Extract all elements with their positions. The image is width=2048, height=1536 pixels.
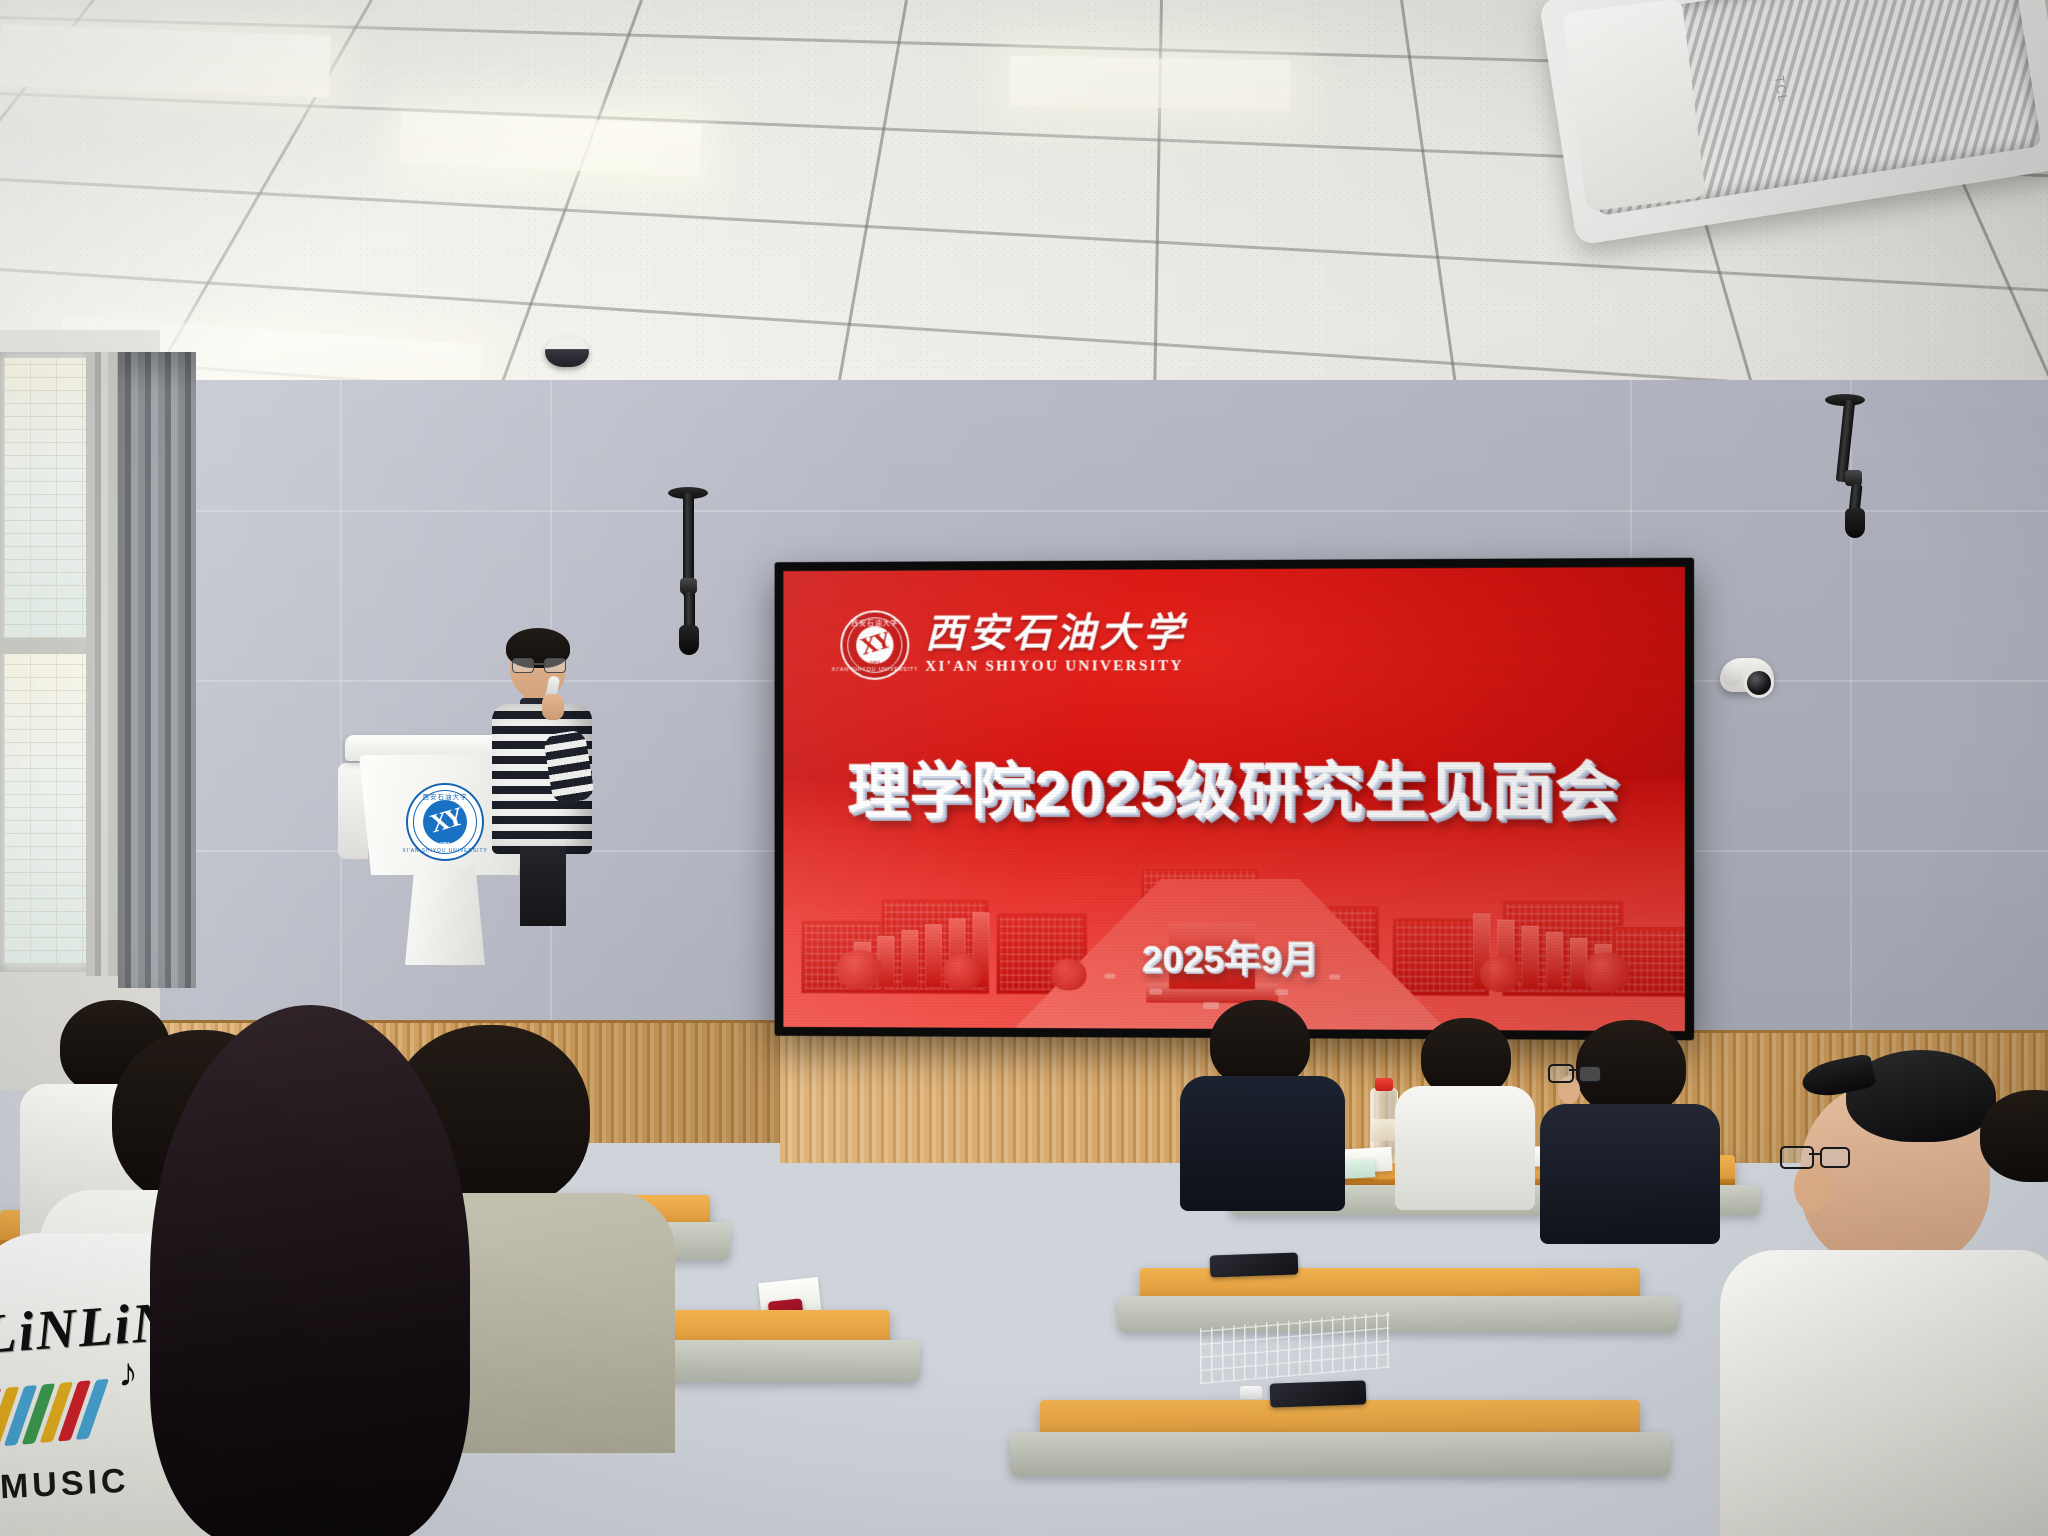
audience-ear (1794, 1162, 1830, 1212)
emblem-english-text: XI'AN SHIYOU UNIVERSITY (402, 848, 487, 854)
emblem-year: 1951 (440, 841, 450, 846)
presenter (492, 632, 592, 922)
presenter-glasses-icon (512, 658, 564, 671)
campus-tree (1583, 952, 1630, 992)
audience-torso (1180, 1076, 1345, 1211)
lectern-base (405, 865, 485, 965)
audience-head (1210, 1000, 1310, 1088)
curtain-sheer (86, 352, 122, 976)
plaza-marking (1149, 989, 1162, 995)
audience-member (1540, 1020, 1720, 1220)
window-view-brick-wall (4, 652, 88, 964)
window-mullion (0, 638, 92, 654)
baseball-cap (1846, 1050, 1996, 1142)
window-pane-lower (4, 652, 88, 964)
university-name-cn: 西安石油大学 (925, 613, 1187, 654)
presenter-hand (542, 694, 564, 720)
bottle-label (1371, 1119, 1397, 1141)
camera-lens-icon (1744, 668, 1774, 698)
seal-english-text: XI'AN SHIYOU UNIVERSITY (832, 667, 919, 673)
slide: 西安石油大学 XY 1951 XI'AN SHIYOU UNIVERSITY 西… (783, 567, 1685, 1031)
campus-tree (1050, 958, 1086, 990)
audience-torso (1395, 1086, 1535, 1210)
eraser (1240, 1386, 1262, 1399)
audience-glasses-icon (1780, 1146, 1846, 1166)
tshirt-subtext: MUSIC (0, 1465, 130, 1504)
window-view-brick-wall (4, 358, 88, 638)
window-frame (0, 352, 92, 972)
bench-back (1118, 1296, 1678, 1332)
campus-tree (1480, 956, 1520, 992)
smartphone (1210, 1252, 1299, 1277)
audience-member (1980, 1090, 2048, 1290)
audience-torso (1720, 1250, 2048, 1536)
audience-glasses-icon (1548, 1064, 1598, 1080)
cap-brim (1799, 1053, 1876, 1101)
led-presentation-screen[interactable]: 西安石油大学 XY 1951 XI'AN SHIYOU UNIVERSITY 西… (775, 558, 1695, 1041)
university-seal-icon: 西安石油大学 XY 1951 XI'AN SHIYOU UNIVERSITY (840, 610, 909, 680)
smartphone (1270, 1380, 1367, 1407)
tshirt-music-label: MUSIC (0, 1462, 130, 1508)
audience-torso (1540, 1104, 1720, 1244)
window-pane-upper (4, 358, 88, 638)
curtain (118, 352, 196, 988)
audience-member (1395, 1018, 1535, 1198)
slide-logo-lockup: 西安石油大学 XY 1951 XI'AN SHIYOU UNIVERSITY 西… (840, 609, 1187, 680)
university-name-en: XI'AN SHIYOU UNIVERSITY (925, 657, 1187, 676)
campus-tree (837, 950, 882, 990)
security-camera (1720, 658, 1774, 692)
music-note-icon: ♪ (118, 1351, 138, 1396)
smoke-detector (545, 337, 589, 367)
plaza-marking (1104, 974, 1115, 979)
slide-title: 理学院2025级研究生见面会 (847, 741, 1619, 832)
camera-mount (1722, 666, 1742, 686)
plaza-marking (1275, 989, 1288, 995)
tshirt-color-bars (0, 1380, 101, 1448)
audience-head (1980, 1090, 2048, 1182)
slide-date: 2025年9月 (1142, 929, 1319, 984)
bottle-cap (1375, 1078, 1393, 1091)
plaza-marking (1329, 974, 1340, 979)
lecture-hall-photo: TCL (0, 0, 2048, 1536)
lectern-university-emblem-icon: 西安石油大学 XY 1951 XI'AN SHIYOU UNIVERSITY (406, 783, 484, 861)
audience-member (1180, 1000, 1345, 1200)
university-wordmark: 西安石油大学 XI'AN SHIYOU UNIVERSITY (925, 613, 1187, 676)
ac-vent-flap (1562, 0, 1705, 212)
audience-member-foreground-ponytail (150, 1005, 470, 1536)
bench-back (1010, 1432, 1670, 1476)
presenter-trousers (520, 846, 566, 926)
campus-tree (943, 954, 983, 990)
audience-hair (150, 1005, 470, 1536)
